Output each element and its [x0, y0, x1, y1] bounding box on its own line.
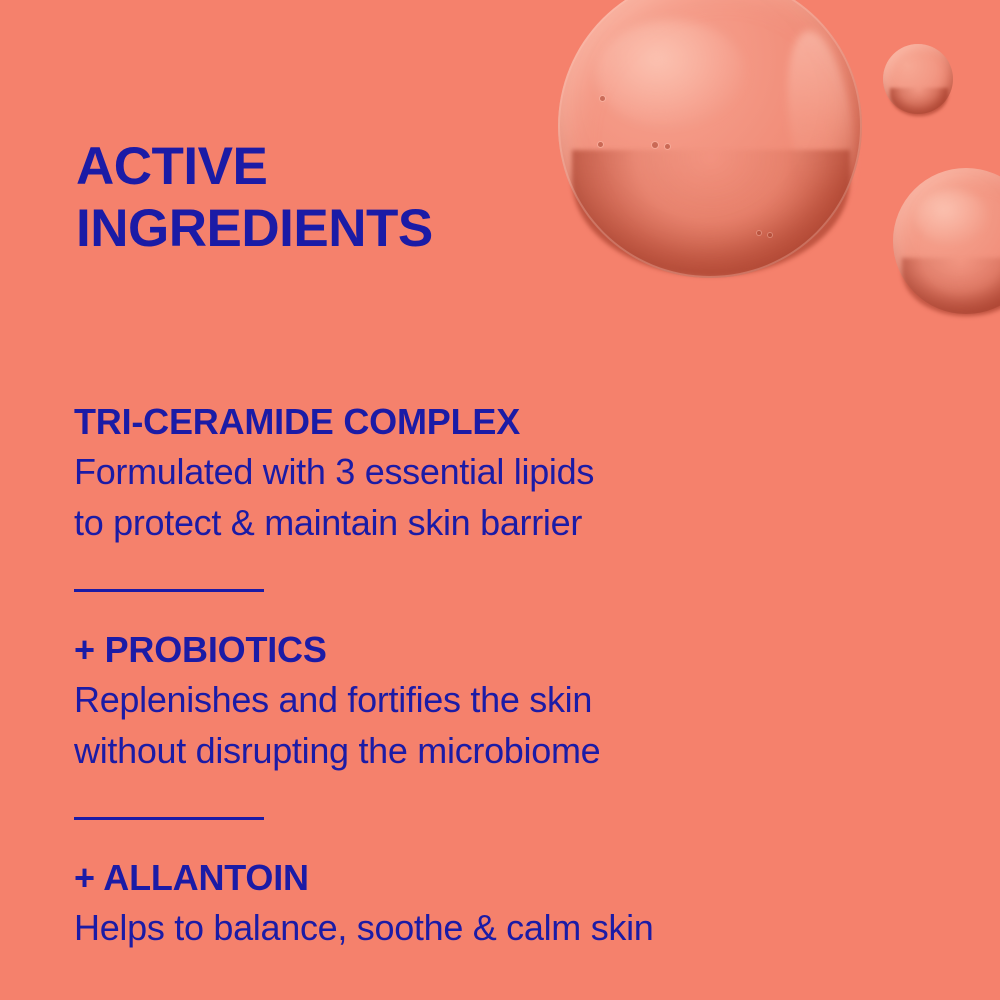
large-droplet-rim-icon	[558, 0, 862, 278]
ingredient-description: Helps to balance, soothe & calm skin	[74, 902, 874, 953]
air-bubble-icon	[600, 96, 605, 101]
air-bubble-icon	[652, 142, 658, 148]
ingredient-name: + PROBIOTICS	[74, 628, 874, 672]
air-bubble-icon	[665, 144, 670, 149]
ingredient-description: Formulated with 3 essential lipids to pr…	[74, 446, 874, 548]
medium-droplet-highlight-icon	[916, 190, 988, 244]
ingredient-description: Replenishes and fortifies the skin witho…	[74, 674, 874, 776]
active-ingredients-poster: ACTIVE INGREDIENTS TRI-CERAMIDE COMPLEX …	[0, 0, 1000, 1000]
air-bubble-icon	[757, 231, 761, 235]
ingredient-item-probiotics: + PROBIOTICS Replenishes and fortifies t…	[74, 628, 874, 776]
air-bubble-icon	[768, 233, 772, 237]
ingredient-name: + ALLANTOIN	[74, 856, 874, 900]
section-divider	[74, 817, 264, 820]
large-droplet-edge-highlight-icon	[777, 27, 865, 224]
ingredient-item-allantoin: + ALLANTOIN Helps to balance, soothe & c…	[74, 856, 874, 953]
section-divider	[74, 589, 264, 592]
large-droplet-highlight-icon	[596, 20, 746, 128]
page-title: ACTIVE INGREDIENTS	[76, 136, 546, 260]
air-bubble-icon	[598, 142, 603, 147]
ingredient-name: TRI-CERAMIDE COMPLEX	[74, 400, 874, 444]
ingredient-list: TRI-CERAMIDE COMPLEX Formulated with 3 e…	[74, 400, 874, 953]
medium-gel-droplet	[893, 168, 1000, 314]
large-droplet-shadow-icon	[572, 150, 850, 276]
ingredient-item-tri-ceramide-complex: TRI-CERAMIDE COMPLEX Formulated with 3 e…	[74, 400, 874, 548]
small-gel-droplet	[883, 44, 953, 114]
medium-droplet-shadow-icon	[902, 258, 1000, 316]
small-droplet-shadow-icon	[890, 88, 948, 116]
large-gel-droplet	[558, 0, 862, 278]
